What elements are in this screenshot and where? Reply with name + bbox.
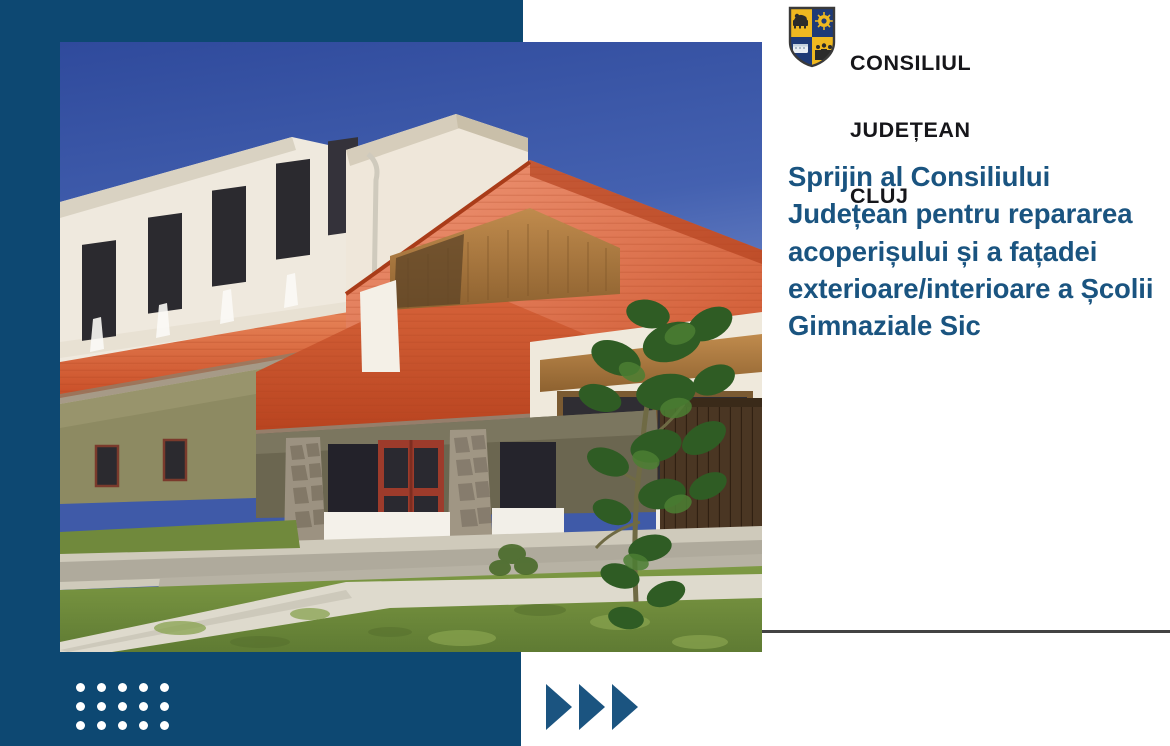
dot [76, 683, 85, 692]
dot [139, 702, 148, 711]
coat-of-arms-icon [788, 6, 836, 68]
dot [139, 721, 148, 730]
dot [118, 702, 127, 711]
dot [76, 721, 85, 730]
dot [76, 702, 85, 711]
horizontal-divider [762, 630, 1170, 633]
dot [118, 683, 127, 692]
logo-line-1: CONSILIUL [850, 52, 971, 74]
dot [97, 683, 106, 692]
dot [97, 721, 106, 730]
decor-panel-left [0, 42, 60, 652]
chevron-right-icon [579, 684, 605, 730]
decor-panel-top-left [0, 0, 523, 42]
chevron-right-icon [612, 684, 638, 730]
school-building-photo [60, 42, 762, 652]
dot [160, 702, 169, 711]
page-title: Sprijin al Consiliului Județean pentru r… [788, 158, 1160, 344]
dot [97, 702, 106, 711]
arrow-triangles-decoration [546, 684, 638, 730]
chevron-right-icon [546, 684, 572, 730]
dot [160, 721, 169, 730]
logo-line-2: JUDEȚEAN [850, 119, 971, 141]
dot [160, 683, 169, 692]
dot [139, 683, 148, 692]
dot [118, 721, 127, 730]
dot-grid-decoration [76, 683, 169, 730]
